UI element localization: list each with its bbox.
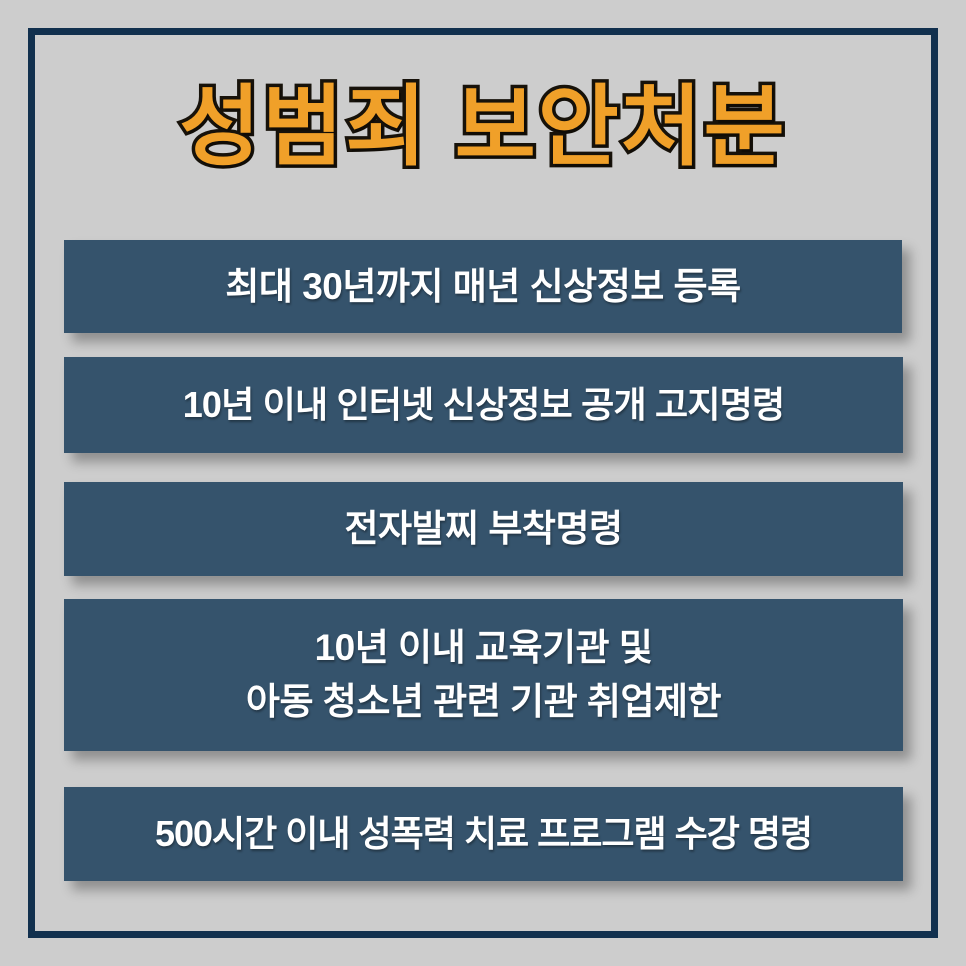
measure-item-treatment-program: 500시간 이내 성폭력 치료 프로그램 수강 명령 [64, 787, 903, 881]
measures-list: 최대 30년까지 매년 신상정보 등록 10년 이내 인터넷 신상정보 공개 고… [0, 0, 966, 966]
measure-item-registration: 최대 30년까지 매년 신상정보 등록 [64, 240, 902, 333]
measure-label-registration: 최대 30년까지 매년 신상정보 등록 [225, 263, 740, 310]
measure-label-disclosure-notice: 10년 이내 인터넷 신상정보 공개 고지명령 [183, 382, 785, 428]
measure-label-employment-ban: 10년 이내 교육기관 및 아동 청소년 관련 기관 취업제한 [246, 621, 721, 728]
measure-item-employment-ban: 10년 이내 교육기관 및 아동 청소년 관련 기관 취업제한 [64, 599, 903, 751]
poster-canvas: 성범죄 보안처분 최대 30년까지 매년 신상정보 등록 10년 이내 인터넷 … [0, 0, 966, 966]
measure-label-ankle-monitor: 전자발찌 부착명령 [344, 505, 622, 552]
measure-item-disclosure-notice: 10년 이내 인터넷 신상정보 공개 고지명령 [64, 357, 903, 453]
measure-label-treatment-program: 500시간 이내 성폭력 치료 프로그램 수강 명령 [155, 811, 812, 857]
measure-item-ankle-monitor: 전자발찌 부착명령 [64, 482, 903, 576]
